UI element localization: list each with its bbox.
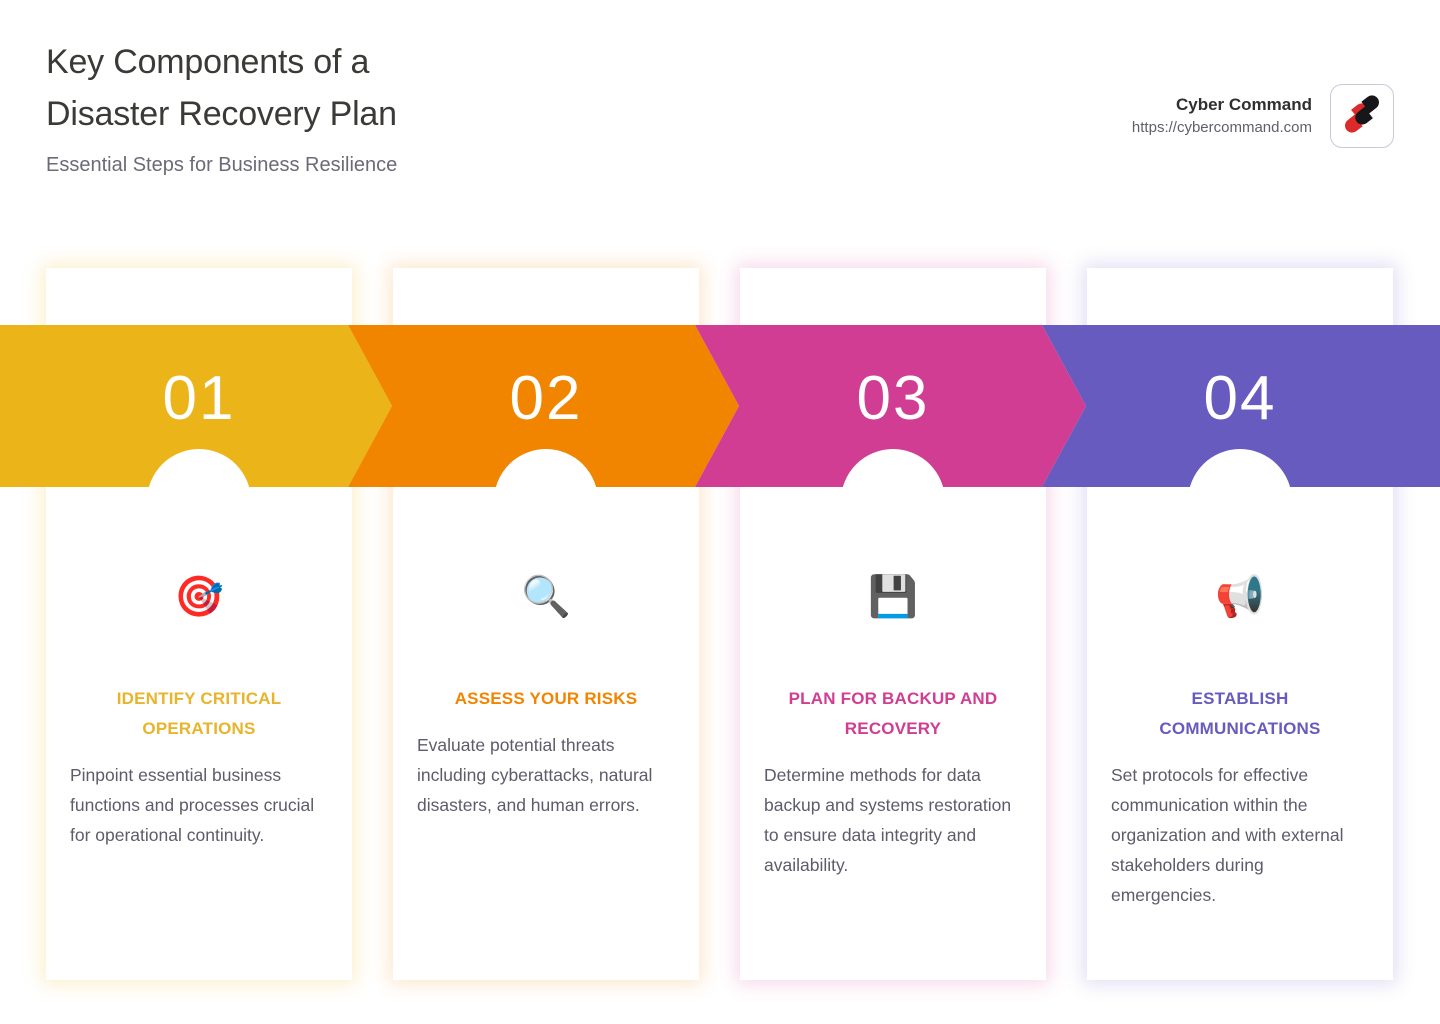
brand-url[interactable]: https://cybercommand.com: [1132, 117, 1312, 139]
loudspeaker-icon: 📢: [1109, 568, 1371, 626]
brand-name: Cyber Command: [1132, 93, 1312, 117]
step-number-1: 01: [46, 325, 352, 487]
step-card-2-body: 🔍 ASSESS YOUR RISKS Evaluate potential t…: [393, 568, 699, 820]
step-card-1-body: 🎯 IDENTIFY CRITICAL OPERATIONS Pinpoint …: [46, 568, 352, 850]
step-card-3-body: 💾 PLAN FOR BACKUP AND RECOVERY Determine…: [740, 568, 1046, 880]
title-block: Key Components of a Disaster Recovery Pl…: [46, 36, 397, 178]
cyber-command-logo-icon: [1339, 91, 1385, 142]
brand-logo: [1330, 84, 1394, 148]
step-card-4-body: 📢 ESTABLISH COMMUNICATIONS Set protocols…: [1087, 568, 1393, 910]
step-card-1-description: Pinpoint essential business functions an…: [68, 760, 330, 850]
step-card-3-heading: PLAN FOR BACKUP AND RECOVERY: [762, 684, 1024, 744]
page-title-line-1: Key Components of a: [46, 36, 397, 88]
step-number-3: 03: [740, 325, 1046, 487]
step-card-3-description: Determine methods for data backup and sy…: [762, 760, 1024, 880]
magnifying-glass-icon: 🔍: [415, 568, 677, 626]
step-card-4-description: Set protocols for effective communicatio…: [1109, 760, 1371, 910]
step-card-2-heading: ASSESS YOUR RISKS: [415, 684, 677, 714]
step-card-1-heading: IDENTIFY CRITICAL OPERATIONS: [68, 684, 330, 744]
brand-text: Cyber Command https://cybercommand.com: [1132, 93, 1312, 139]
page-header: Key Components of a Disaster Recovery Pl…: [0, 0, 1440, 230]
step-card-2-description: Evaluate potential threats including cyb…: [415, 730, 677, 820]
page-subtitle: Essential Steps for Business Resilience: [46, 152, 397, 178]
target-dart-icon: 🎯: [68, 568, 330, 626]
step-card-4-heading: ESTABLISH COMMUNICATIONS: [1109, 684, 1371, 744]
brand-block: Cyber Command https://cybercommand.com: [1132, 84, 1394, 148]
step-number-2: 02: [393, 325, 699, 487]
page-title-line-2: Disaster Recovery Plan: [46, 88, 397, 140]
floppy-disk-icon: 💾: [762, 568, 1024, 626]
step-number-4: 04: [1087, 325, 1393, 487]
